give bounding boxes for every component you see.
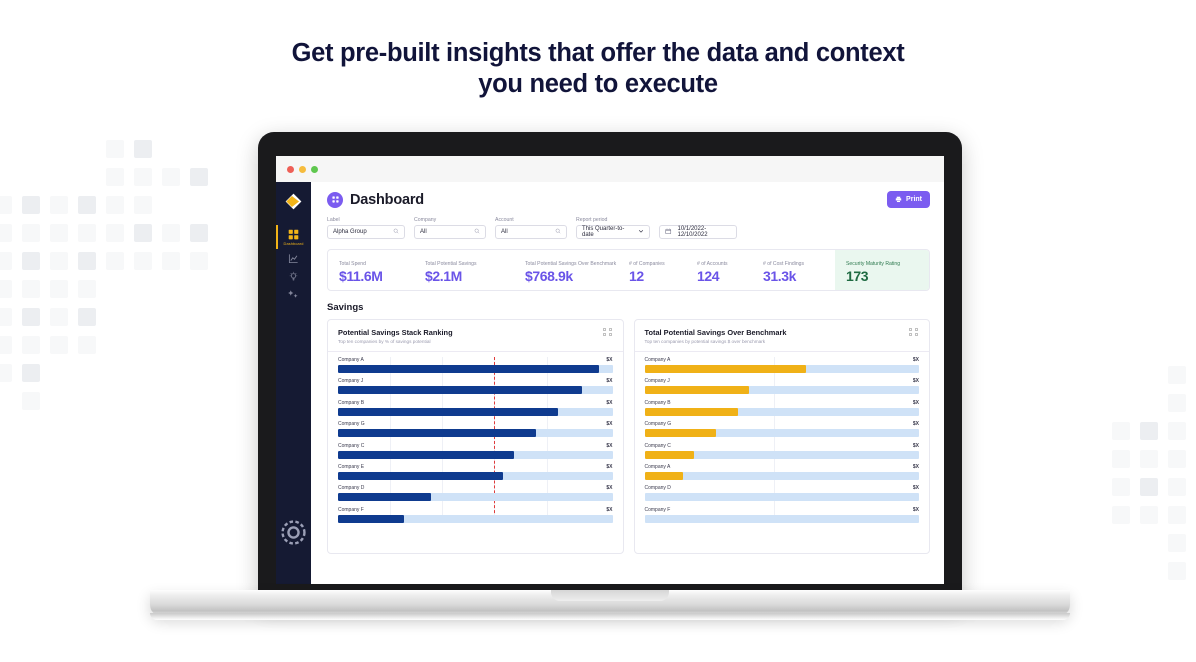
bar-value-label: $X — [913, 357, 919, 363]
bar-row-header: Company G$X — [645, 421, 920, 427]
decorative-square — [22, 252, 40, 270]
decorative-square — [50, 280, 68, 298]
filter-label-input[interactable]: Alpha Group — [327, 225, 405, 239]
sidebar-item-settings[interactable] — [276, 515, 311, 550]
decorative-square — [1168, 506, 1186, 524]
decorative-square — [1140, 394, 1158, 412]
bar-category-label: Company J — [645, 378, 670, 384]
kpi-total-potential-savings: Total Potential Savings$2.1M — [414, 250, 514, 290]
filter-company-input[interactable]: All — [414, 225, 486, 239]
bar-track — [645, 493, 920, 501]
filter-account: AccountAll — [495, 217, 567, 239]
main-content: Dashboard Print LabelA — [311, 182, 944, 584]
bar-row-header: Company G$X — [338, 421, 613, 427]
bar-row-header: Company C$X — [645, 443, 920, 449]
lightbulb-icon — [288, 271, 299, 282]
chart-subtitle: Top ten companies by potential savings $… — [645, 339, 787, 344]
decorative-square — [106, 336, 124, 354]
bar-category-label: Company E — [338, 464, 364, 470]
chart-card-savings-stack-ranking: Potential Savings Stack RankingTop ten c… — [327, 319, 624, 554]
chart-bar-row[interactable]: Company C$X — [338, 443, 613, 459]
decorative-square — [22, 364, 40, 382]
bar-track — [338, 493, 613, 501]
bar-category-label: Company G — [338, 421, 365, 427]
chart-header: Total Potential Savings Over BenchmarkTo… — [645, 328, 920, 344]
filter-company: CompanyAll — [414, 217, 486, 239]
decorative-square-grid-right — [1112, 366, 1196, 580]
chart-card-savings-over-benchmark: Total Potential Savings Over BenchmarkTo… — [634, 319, 931, 554]
laptop-base-lip — [150, 613, 1070, 620]
decorative-square — [0, 168, 12, 186]
bar-fill — [338, 386, 582, 394]
chart-bar-row[interactable]: Company A$X — [645, 464, 920, 480]
bar-track — [645, 386, 920, 394]
bar-value-label: $X — [606, 464, 612, 470]
chart-divider — [328, 351, 623, 352]
decorative-square — [0, 140, 12, 158]
decorative-square — [0, 336, 12, 354]
chart-title: Total Potential Savings Over Benchmark — [645, 328, 787, 337]
bar-value-label: $X — [913, 378, 919, 384]
bar-track — [338, 515, 613, 523]
decorative-square — [106, 252, 124, 270]
bar-category-label: Company G — [645, 421, 672, 427]
decorative-square — [0, 280, 12, 298]
bar-fill — [645, 429, 716, 437]
decorative-square — [78, 140, 96, 158]
expand-corners-icon[interactable] — [603, 328, 613, 336]
decorative-square — [22, 168, 40, 186]
decorative-square — [0, 252, 12, 270]
bar-row-header: Company B$X — [338, 400, 613, 406]
decorative-square — [1168, 394, 1186, 412]
bar-category-label: Company B — [645, 400, 671, 406]
sidebar-item-label: Dashboard — [284, 241, 304, 246]
filter-label: Label — [327, 217, 405, 223]
bar-row-header: Company A$X — [338, 357, 613, 363]
decorative-square — [1112, 506, 1130, 524]
decorative-square — [50, 224, 68, 242]
decorative-square — [1140, 450, 1158, 468]
chart-bar-row[interactable]: Company D$X — [645, 485, 920, 501]
bar-row-header: Company E$X — [338, 464, 613, 470]
chart-bar-row[interactable]: Company J$X — [645, 378, 920, 394]
filter-account-input[interactable]: All — [495, 225, 567, 239]
decorative-square — [1140, 478, 1158, 496]
bar-value-label: $X — [606, 378, 612, 384]
bar-row-header: Company C$X — [338, 443, 613, 449]
bar-fill — [645, 365, 807, 373]
expand-corners-icon[interactable] — [909, 328, 919, 336]
chart-title-group: Potential Savings Stack RankingTop ten c… — [338, 328, 453, 344]
decorative-square — [50, 364, 68, 382]
decorative-square — [1168, 562, 1186, 580]
bar-category-label: Company A — [645, 357, 671, 363]
decorative-square — [1112, 562, 1130, 580]
headline-line-1: Get pre-built insights that offer the da… — [292, 39, 905, 67]
header-row: Dashboard Print — [327, 191, 930, 208]
headline-line-2: you need to execute — [478, 70, 717, 98]
bar-value-label: $X — [606, 443, 612, 449]
filter-value: All — [420, 229, 427, 235]
calendar-icon — [665, 228, 672, 237]
decorative-square — [0, 392, 12, 410]
chart-header: Potential Savings Stack RankingTop ten c… — [338, 328, 613, 344]
bar-fill — [338, 408, 558, 416]
filter-label — [659, 217, 737, 223]
bar-row-header: Company F$X — [645, 507, 920, 513]
bar-row-header: Company J$X — [338, 378, 613, 384]
decorative-square — [78, 336, 96, 354]
bar-value-label: $X — [606, 485, 612, 491]
kpi-label: # of Companies — [629, 261, 686, 268]
kpi-value: 173 — [846, 268, 918, 284]
decorative-square — [78, 308, 96, 326]
bar-track — [645, 472, 920, 480]
filter-label: Report period — [576, 217, 650, 223]
bar-category-label: Company C — [645, 443, 671, 449]
bar-category-label: Company J — [338, 378, 363, 384]
bar-track — [338, 408, 613, 416]
bar-track — [645, 408, 920, 416]
print-button-label: Print — [906, 196, 922, 203]
bar-fill — [338, 429, 536, 437]
sidebar: Dashboard — [276, 182, 311, 584]
kpi-value: $768.9k — [525, 268, 618, 284]
kpi-label: Total Spend — [339, 261, 414, 268]
decorative-square — [50, 252, 68, 270]
bar-fill — [338, 493, 431, 501]
bar-track — [338, 429, 613, 437]
bar-fill — [645, 386, 749, 394]
chart-bar-row[interactable]: Company G$X — [338, 421, 613, 437]
bar-row-header: Company A$X — [645, 357, 920, 363]
chart-bar-row[interactable]: Company D$X — [338, 485, 613, 501]
kpi-security-maturity-rating: Security Maturity Rating173 — [835, 250, 929, 290]
chart-rows: Company A$XCompany J$XCompany B$XCompany… — [645, 357, 920, 523]
filter-value: 10/1/2022-12/10/2022 — [678, 226, 732, 238]
chart-divider — [635, 351, 930, 352]
decorative-square — [50, 336, 68, 354]
chart-rows: Company A$XCompany J$XCompany B$XCompany… — [338, 357, 613, 523]
chart-bar-row[interactable]: Company B$X — [338, 400, 613, 416]
chart-subtitle: Top ten companies by % of savings potent… — [338, 339, 453, 344]
bar-fill — [338, 515, 404, 523]
kpi-of-companies: # of Companies12 — [618, 250, 686, 290]
decorative-square — [22, 224, 40, 242]
kpi-total-potential-savings-over-benchmark: Total Potential Savings Over Benchmark$7… — [514, 250, 618, 290]
sidebar-item-analytics[interactable] — [276, 249, 311, 267]
bar-value-label: $X — [913, 485, 919, 491]
decorative-square — [78, 168, 96, 186]
dashboard-title: Dashboard — [350, 192, 424, 208]
chart-bar-row[interactable]: Company A$X — [338, 357, 613, 373]
bar-category-label: Company F — [645, 507, 671, 513]
bar-value-label: $X — [606, 400, 612, 406]
header-title-group: Dashboard — [327, 192, 424, 208]
decorative-square — [1140, 506, 1158, 524]
chart-bar-row[interactable]: Company F$X — [645, 507, 920, 523]
bar-fill — [645, 451, 694, 459]
filter-value: All — [501, 229, 508, 235]
sidebar-item-dashboard[interactable]: Dashboard — [276, 225, 311, 249]
decorative-square — [1168, 450, 1186, 468]
kpi-label: Security Maturity Rating — [846, 261, 918, 268]
kpi-label: # of Accounts — [697, 261, 752, 268]
charts-row: Potential Savings Stack RankingTop ten c… — [327, 319, 930, 554]
decorative-square — [106, 280, 124, 298]
kpi-value: 124 — [697, 268, 752, 284]
decorative-square — [50, 196, 68, 214]
bar-track — [338, 472, 613, 480]
decorative-square — [1112, 422, 1130, 440]
kpi-of-cost-findings: # of Cost Findings31.3k — [752, 250, 830, 290]
decorative-square — [1140, 422, 1158, 440]
decorative-square — [106, 196, 124, 214]
bar-track — [338, 365, 613, 373]
decorative-square — [1168, 478, 1186, 496]
printer-icon — [895, 196, 902, 203]
line-chart-icon — [288, 253, 299, 264]
chart-title-group: Total Potential Savings Over BenchmarkTo… — [645, 328, 787, 344]
search-icon — [393, 228, 399, 236]
chart-bar-row[interactable]: Company J$X — [338, 378, 613, 394]
page-root: Get pre-built insights that offer the da… — [0, 0, 1196, 662]
decorative-square — [22, 140, 40, 158]
decorative-square — [22, 280, 40, 298]
bar-value-label: $X — [913, 507, 919, 513]
grid-dashboard-icon — [288, 229, 299, 240]
apps-grid-icon — [327, 192, 343, 208]
decorative-square — [1140, 366, 1158, 384]
decorative-square — [1140, 562, 1158, 580]
maximize-icon[interactable] — [311, 166, 318, 173]
bar-row-header: Company A$X — [645, 464, 920, 470]
laptop-mockup: Dashboard — [150, 132, 1070, 632]
filter-report-period-input[interactable]: This Quarter-to-date — [576, 225, 650, 239]
chart-bar-row[interactable]: Company E$X — [338, 464, 613, 480]
search-icon — [474, 228, 480, 236]
filter-date: 10/1/2022-12/10/2022 — [659, 217, 737, 239]
bar-fill — [338, 365, 599, 373]
bar-row-header: Company D$X — [338, 485, 613, 491]
decorative-square — [22, 392, 40, 410]
bar-track — [338, 386, 613, 394]
filter-value: This Quarter-to-date — [582, 226, 632, 238]
minimize-icon[interactable] — [299, 166, 306, 173]
decorative-square — [78, 252, 96, 270]
decorative-square — [0, 196, 12, 214]
chart-title: Potential Savings Stack Ranking — [338, 328, 453, 337]
laptop-lid: Dashboard — [258, 132, 962, 604]
bar-category-label: Company D — [338, 485, 364, 491]
chart-bar-row[interactable]: Company B$X — [645, 400, 920, 416]
bar-row-header: Company J$X — [645, 378, 920, 384]
savings-section-title: Savings — [327, 302, 930, 313]
decorative-square — [50, 168, 68, 186]
sidebar-item-automation[interactable] — [276, 285, 311, 303]
decorative-square — [0, 308, 12, 326]
decorative-square — [50, 308, 68, 326]
window-chrome — [276, 156, 944, 182]
bar-fill — [338, 451, 514, 459]
decorative-square — [78, 196, 96, 214]
page-title: Get pre-built insights that offer the da… — [0, 38, 1196, 100]
print-button[interactable]: Print — [887, 191, 930, 208]
decorative-square — [1168, 534, 1186, 552]
bar-category-label: Company A — [645, 464, 671, 470]
brand-diamond-logo — [284, 192, 303, 211]
decorative-square — [106, 140, 124, 158]
decorative-square — [106, 364, 124, 382]
bar-fill — [645, 472, 683, 480]
bar-value-label: $X — [606, 421, 612, 427]
bar-track — [645, 365, 920, 373]
decorative-square — [1112, 366, 1130, 384]
chart-bar-row[interactable]: Company A$X — [645, 357, 920, 373]
decorative-square — [106, 168, 124, 186]
bar-row-header: Company F$X — [338, 507, 613, 513]
kpi-total-spend: Total Spend$11.6M — [328, 250, 414, 290]
gear-icon — [276, 515, 311, 550]
bar-fill — [338, 472, 503, 480]
bar-track — [645, 429, 920, 437]
bar-value-label: $X — [606, 357, 612, 363]
kpi-value: 31.3k — [763, 268, 830, 284]
decorative-square — [78, 224, 96, 242]
decorative-square — [78, 280, 96, 298]
bar-value-label: $X — [913, 443, 919, 449]
laptop-screen: Dashboard — [276, 156, 944, 584]
decorative-square — [1168, 366, 1186, 384]
kpi-of-accounts: # of Accounts124 — [686, 250, 752, 290]
kpi-value: $11.6M — [339, 268, 414, 284]
chevron-down-icon — [638, 228, 644, 236]
bar-value-label: $X — [913, 400, 919, 406]
kpi-label: # of Cost Findings — [763, 261, 830, 268]
decorative-square — [1112, 394, 1130, 412]
bar-track — [645, 451, 920, 459]
filter-bar: LabelAlpha GroupCompanyAllAccountAllRepo… — [327, 217, 930, 239]
decorative-square — [22, 336, 40, 354]
bar-value-label: $X — [606, 507, 612, 513]
decorative-square — [1168, 422, 1186, 440]
bar-category-label: Company B — [338, 400, 364, 406]
bar-category-label: Company D — [645, 485, 671, 491]
sidebar-item-insights[interactable] — [276, 267, 311, 285]
bar-value-label: $X — [913, 464, 919, 470]
decorative-square — [22, 196, 40, 214]
bar-row-header: Company D$X — [645, 485, 920, 491]
decorative-square — [1112, 450, 1130, 468]
bar-category-label: Company C — [338, 443, 364, 449]
decorative-square — [0, 364, 12, 382]
app-shell: Dashboard — [276, 182, 944, 584]
chart-bar-row[interactable]: Company C$X — [645, 443, 920, 459]
decorative-square — [1112, 534, 1130, 552]
decorative-square — [22, 308, 40, 326]
kpi-strip: Total Spend$11.6MTotal Potential Savings… — [327, 249, 930, 291]
filter-label: Account — [495, 217, 567, 223]
decorative-square — [106, 392, 124, 410]
decorative-square — [1140, 534, 1158, 552]
bar-track — [645, 515, 920, 523]
filter-label: LabelAlpha Group — [327, 217, 405, 239]
decorative-square — [0, 224, 12, 242]
sparkle-nodes-icon — [288, 289, 299, 300]
decorative-square — [1112, 478, 1130, 496]
decorative-square — [78, 392, 96, 410]
filter-report-period: Report periodThis Quarter-to-date — [576, 217, 650, 239]
chart-bar-row[interactable]: Company F$X — [338, 507, 613, 523]
close-icon[interactable] — [287, 166, 294, 173]
filter-value: Alpha Group — [333, 229, 367, 235]
bar-category-label: Company F — [338, 507, 364, 513]
decorative-square — [106, 308, 124, 326]
bar-category-label: Company A — [338, 357, 364, 363]
kpi-label: Total Potential Savings Over Benchmark — [525, 261, 618, 268]
decorative-square — [78, 364, 96, 382]
bar-track — [338, 451, 613, 459]
bar-fill — [645, 408, 738, 416]
filter-label: Company — [414, 217, 486, 223]
search-icon — [555, 228, 561, 236]
decorative-square — [50, 392, 68, 410]
bar-row-header: Company B$X — [645, 400, 920, 406]
filter-date-input[interactable]: 10/1/2022-12/10/2022 — [659, 225, 737, 239]
decorative-square — [50, 140, 68, 158]
kpi-value: $2.1M — [425, 268, 514, 284]
bar-value-label: $X — [913, 421, 919, 427]
chart-bar-row[interactable]: Company G$X — [645, 421, 920, 437]
kpi-value: 12 — [629, 268, 686, 284]
decorative-square — [106, 224, 124, 242]
kpi-label: Total Potential Savings — [425, 261, 514, 268]
